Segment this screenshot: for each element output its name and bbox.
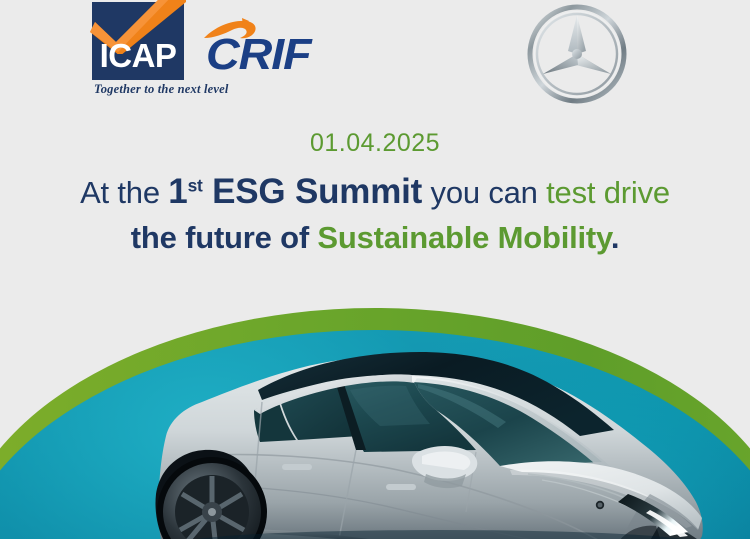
headline-seg-sustainable-mobility: Sustainable Mobility xyxy=(317,220,610,255)
icap-tagline: Together to the next level xyxy=(94,82,262,97)
icap-logo-mark: ICAP xyxy=(92,2,184,80)
promotional-poster: ICAP Together to the next level CRIF xyxy=(0,0,750,539)
headline-ordinal-suffix: st xyxy=(188,176,203,196)
headline-block: 01.04.2025 At the 1st ESG Summit you can… xyxy=(0,127,750,260)
headline-text: At the 1st ESG Summit you can test drive… xyxy=(0,169,750,260)
event-date: 01.04.2025 xyxy=(0,127,750,159)
mercedes-eq-suv xyxy=(150,344,710,539)
headline-seg-the-future-of: the future of xyxy=(131,220,318,255)
headline-seg-test-drive: test drive xyxy=(546,175,670,210)
mercedes-three-pointed-star-icon xyxy=(527,4,627,104)
headline-line-1: At the 1st ESG Summit you can test drive xyxy=(40,169,710,215)
hero-scene xyxy=(0,282,750,539)
headline-line-2: the future of Sustainable Mobility. xyxy=(40,215,710,260)
logo-bar: ICAP Together to the next level CRIF xyxy=(0,0,750,118)
crif-logo: CRIF xyxy=(200,22,340,80)
headline-seg-esg-summit: ESG Summit xyxy=(203,172,423,211)
crif-wordmark: CRIF xyxy=(206,32,311,78)
headline-seg-period: . xyxy=(611,220,619,255)
headline-seg-at-the: At the xyxy=(80,175,168,210)
headline-ordinal-number: 1 xyxy=(168,172,187,211)
icap-wordmark: ICAP xyxy=(92,36,184,76)
headline-seg-you-can: you can xyxy=(422,175,546,210)
